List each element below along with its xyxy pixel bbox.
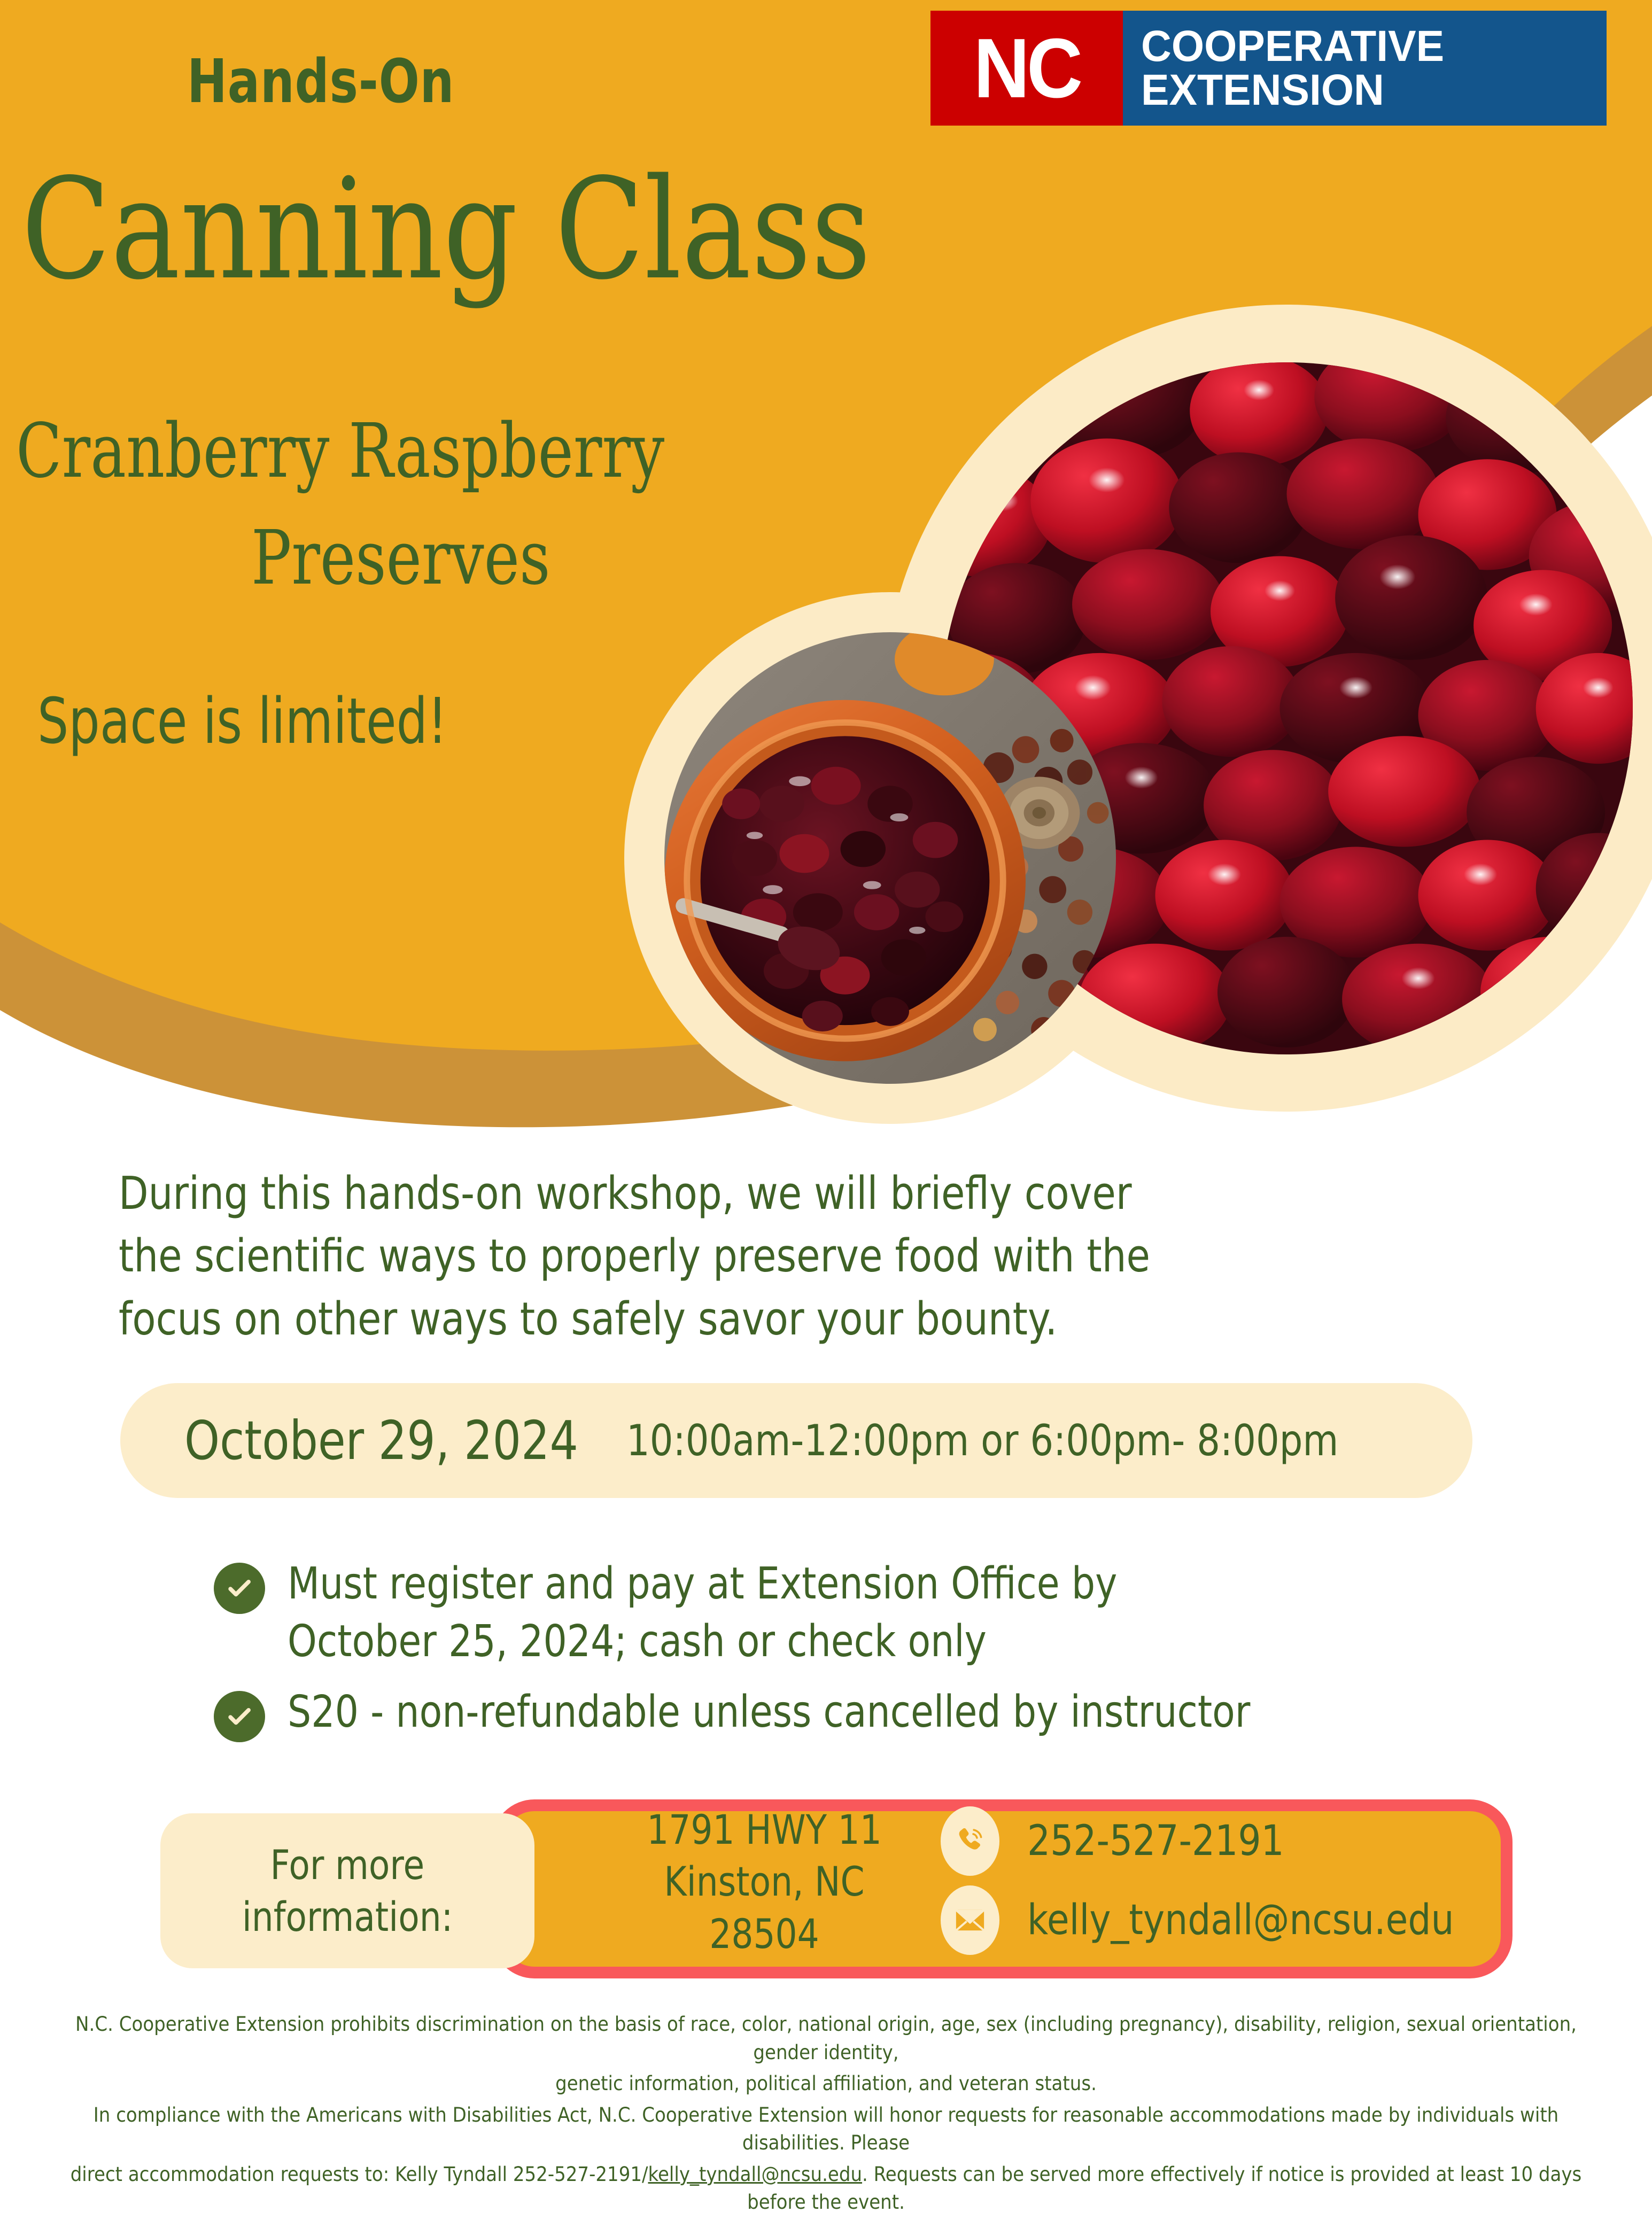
check-circle-icon [214,1563,265,1614]
body-line-2: the scientific ways to properly preserve… [119,1225,1218,1287]
disclaimer-line-4: direct accommodation requests to: Kelly … [66,2161,1586,2217]
body-paragraph: During this hands-on workshop, we will b… [119,1162,1218,1350]
phone-number[interactable]: 252-527-2191 [1027,1817,1284,1865]
event-date-banner: October 29, 2024 10:00am-12:00pm or 6:00… [120,1383,1472,1498]
disclaimer-line-4-pre: direct accommodation requests to: Kelly … [71,2163,648,2186]
email-row[interactable]: kelly_tyndall@ncsu.edu [941,1885,1518,1955]
subtitle-line-2: Preserves [251,521,550,596]
bullet-text-0: Must register and pay at Extension Offic… [288,1555,1117,1671]
legal-disclaimer: N.C. Cooperative Extension prohibits dis… [0,2011,1652,2220]
contact-methods: 252-527-2191 kelly_tyndall@ncsu.edu [941,1806,1518,1965]
contact-label-line-2: information: [242,1891,453,1943]
logo-nc-text: NC [974,26,1080,111]
list-item: Must register and pay at Extension Offic… [214,1555,1470,1671]
contact-label-line-1: For more [270,1839,425,1891]
disclaimer-line-1: N.C. Cooperative Extension prohibits dis… [66,2011,1586,2067]
logo-cooperative-text: COOPERATIVE [1141,25,1588,68]
address-line-2: Kinston, NC [624,1856,905,1907]
address-block: 1791 HWY 11 Kinston, NC 28504 [599,1804,930,1960]
bullet-1-line-1: S20 - non-refundable unless cancelled by… [288,1683,1250,1741]
email-address[interactable]: kelly_tyndall@ncsu.edu [1027,1896,1454,1944]
list-item: S20 - non-refundable unless cancelled by… [214,1683,1470,1742]
event-times: 10:00am-12:00pm or 6:00pm- 8:00pm [626,1416,1338,1465]
space-limited-callout: Space is limited! [37,689,447,752]
disclaimer-line-4-post: . Requests can be served more effectivel… [747,2163,1581,2214]
subtitle-line-1: Cranberry Raspberry [16,414,664,489]
address-line-1: 1791 HWY 11 [624,1804,905,1856]
disclaimer-line-3: In compliance with the Americans with Di… [66,2101,1586,2157]
envelope-icon [941,1885,999,1955]
bullet-list: Must register and pay at Extension Offic… [214,1555,1470,1755]
logo-nc-block: NC [930,11,1123,126]
bullet-0-line-1: Must register and pay at Extension Offic… [288,1555,1117,1613]
nc-cooperative-extension-logo: NC COOPERATIVE EXTENSION [930,11,1607,126]
bullet-0-line-2: October 25, 2024; cash or check only [288,1613,1117,1671]
check-circle-icon [214,1691,265,1742]
body-line-1: During this hands-on workshop, we will b… [119,1162,1218,1225]
for-more-information-pill: For more information: [160,1813,534,1968]
logo-extension-text: EXTENSION [1141,68,1588,112]
phone-icon [941,1806,999,1876]
address-line-3: 28504 [624,1908,905,1960]
disclaimer-email-link[interactable]: kelly_tyndall@ncsu.edu [648,2163,862,2186]
body-line-3: focus on other ways to safely savor your… [119,1288,1218,1350]
disclaimer-line-2: genetic information, political affiliati… [66,2070,1586,2098]
contact-footer: For more information: 1791 HWY 11 Kinsto… [0,1788,1652,1991]
page-title: Canning Class [21,160,871,299]
photo-preserves-bowl [664,632,1116,1084]
eyebrow-hands-on: Hands-On [187,47,454,117]
event-date: October 29, 2024 [184,1409,578,1472]
bullet-text-1: S20 - non-refundable unless cancelled by… [288,1683,1250,1741]
phone-row[interactable]: 252-527-2191 [941,1806,1518,1876]
logo-extension-block: COOPERATIVE EXTENSION [1123,11,1607,126]
